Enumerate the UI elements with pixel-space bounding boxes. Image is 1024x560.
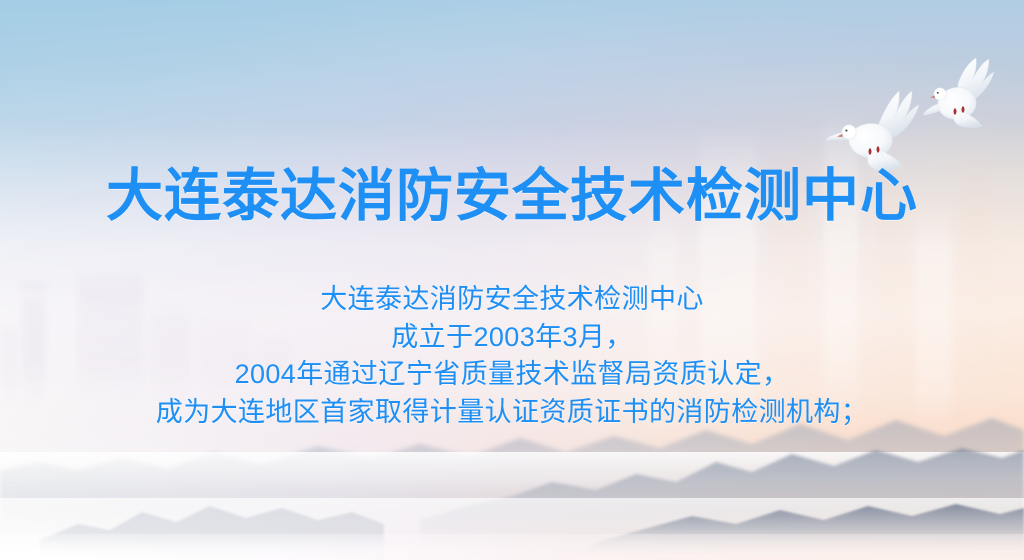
mist-band-foreground (0, 534, 1024, 560)
mountain-ridge-mid (420, 448, 1024, 560)
banner-title: 大连泰达消防安全技术检测中心 (0, 165, 1024, 227)
lavender-haze-overlay (0, 0, 1024, 560)
dove-icon (826, 88, 924, 174)
text-legibility-veil (0, 0, 1024, 560)
description-line: 成为大连地区首家取得计量认证资质证书的消防检测机构； (0, 394, 1024, 432)
description-line: 大连泰达消防安全技术检测中心 (0, 281, 1024, 319)
sky-gradient-background (0, 0, 1024, 560)
description-line: 成立于2003年3月， (0, 319, 1024, 357)
mist-band-lower (0, 498, 1024, 538)
promotional-banner: 大连泰达消防安全技术检测中心 大连泰达消防安全技术检测中心 成立于2003年3月… (0, 0, 1024, 560)
pink-glow-overlay (0, 0, 1024, 560)
mist-band-upper (0, 452, 1024, 496)
dove-icon (922, 56, 1000, 128)
mountain-ridge-near (560, 504, 1024, 560)
mountain-ridge-far (0, 418, 1024, 560)
banner-description: 大连泰达消防安全技术检测中心 成立于2003年3月， 2004年通过辽宁省质量技… (0, 281, 1024, 431)
misty-mountains (0, 0, 1024, 560)
sunrise-warm-overlay (0, 0, 1024, 560)
ghosted-city-skyline (0, 0, 1024, 560)
description-line: 2004年通过辽宁省质量技术监督局资质认定， (0, 356, 1024, 394)
mountain-peaks-left (40, 506, 384, 560)
